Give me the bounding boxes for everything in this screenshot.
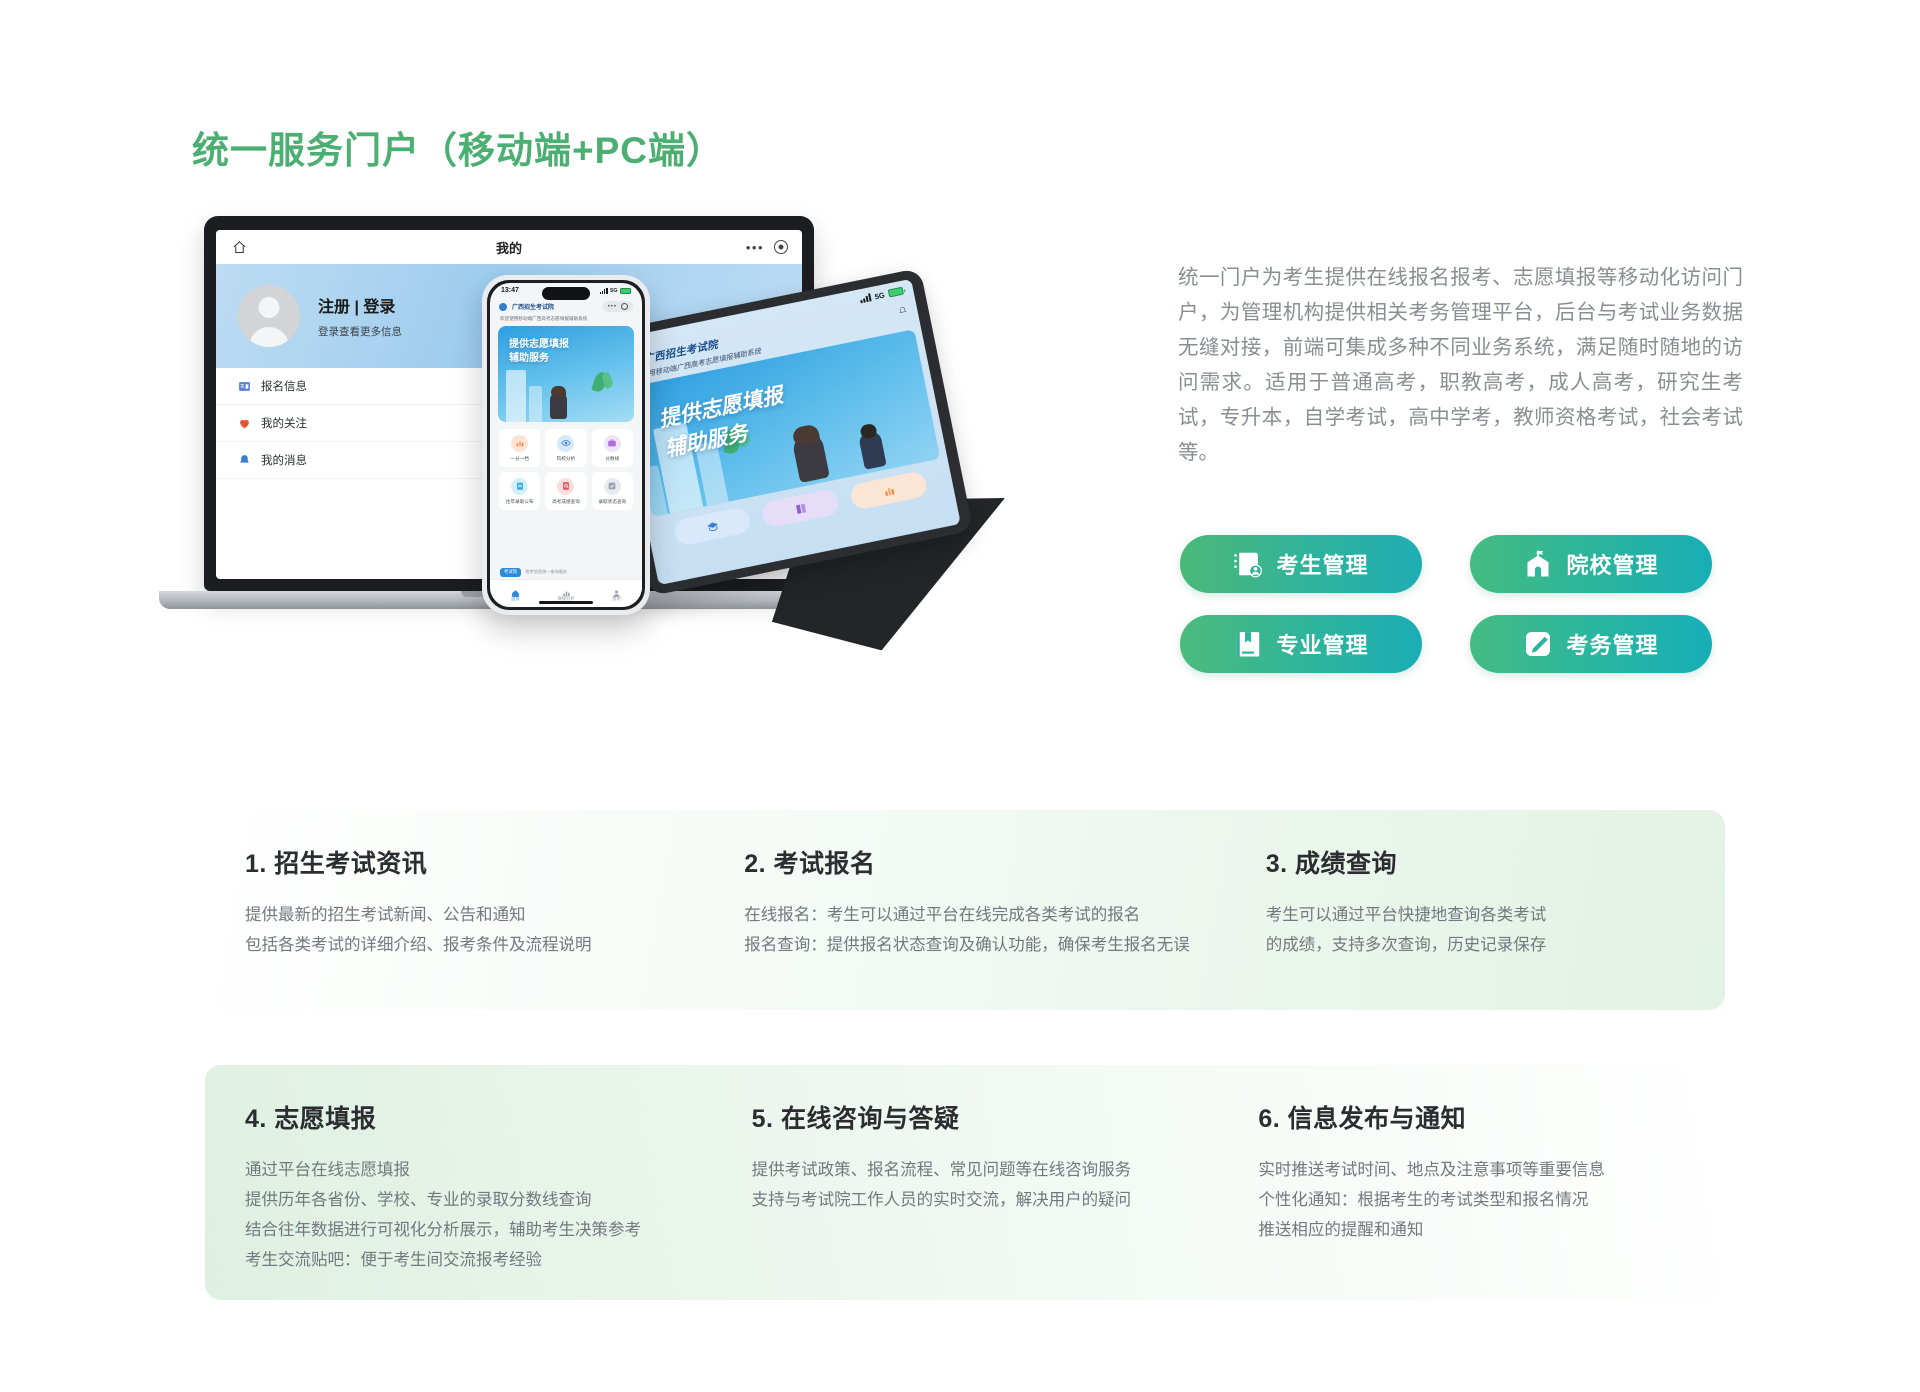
laptop-menu-label: 我的消息 [261, 452, 307, 468]
feature-card-line: 报名查询：提供报名状态查询及确认功能，确保考生报名无误 [744, 930, 1190, 960]
phone-tab-analysis[interactable]: 填报分析 [541, 585, 592, 602]
phone-home-indicator [539, 601, 593, 604]
tablet-tile[interactable] [761, 488, 841, 529]
phone-tab-label: 我的 [612, 596, 621, 602]
feature-card-title: 4. 志愿填报 [245, 1099, 676, 1135]
pencil-edit-icon [1523, 629, 1553, 659]
register-login-link[interactable]: 注册 | 登录 [318, 293, 402, 317]
network-label: 5G [874, 290, 886, 301]
phone-footer: 考试院 招考信息统一查询服务 [490, 568, 642, 577]
phone-bezel: 13:47 5G 广西招生考试院 [487, 280, 645, 610]
book-bookmark-icon [1233, 629, 1263, 659]
eye-icon [557, 435, 574, 452]
feature-card-title: 3. 成绩查询 [1266, 844, 1689, 880]
feature-card-body: 通过平台在线志愿填报 提供历年各省份、学校、专业的录取分数线查询 结合往年数据进… [245, 1155, 676, 1275]
feature-card-line: 实时推送考试时间、地点及注意事项等重要信息 [1258, 1155, 1689, 1185]
laptop-topbar: 我的 ••• [216, 230, 802, 264]
briefcase-icon [604, 435, 621, 452]
phone-grid-item[interactable]: 分数线 [592, 429, 633, 467]
phone-grid-label: 高考成绩查询 [552, 499, 580, 505]
phone-screen: 13:47 5G 广西招生考试院 [490, 283, 642, 607]
graduation-cap-icon [705, 519, 720, 534]
action-button-label: 考务管理 [1566, 628, 1658, 660]
hero-section: 我的 ••• 注册 | 登录 登录查看更多信息 [0, 235, 1920, 765]
phone-grid-item[interactable]: 往年录取公布 [499, 472, 540, 510]
intro-text-block: 统一门户为考生提供在线报名报考、志愿填报等移动化访问门户，为管理机构提供相关考务… [1178, 260, 1743, 470]
feature-card-line: 推送相应的提醒和通知 [1258, 1215, 1689, 1245]
feature-card-line: 提供最新的招生考试新闻、公告和通知 [245, 900, 668, 930]
feature-card-body: 考生可以通过平台快捷地查询各类考试 的成绩，支持多次查询，历史记录保存 [1266, 900, 1689, 960]
bell-icon[interactable] [897, 301, 908, 312]
feature-card-line: 提供历年各省份、学校、专业的录取分数线查询 [245, 1185, 676, 1215]
tablet-tile[interactable] [673, 506, 753, 547]
decor-figure [858, 430, 887, 470]
school-management-button[interactable]: 院校管理 [1470, 535, 1712, 593]
feature-card-line: 考生可以通过平台快捷地查询各类考试 [1266, 900, 1689, 930]
laptop-menu-label: 我的关注 [261, 415, 307, 431]
chart-icon [881, 483, 896, 498]
form-icon [238, 380, 251, 393]
feature-card-body: 提供最新的招生考试新闻、公告和通知 包括各类考试的详细介绍、报考条件及流程说明 [245, 900, 668, 960]
action-button-label: 院校管理 [1566, 548, 1658, 580]
feature-card-title: 2. 考试报名 [744, 844, 1190, 880]
phone-grid-item[interactable]: 院校分析 [545, 429, 586, 467]
avatar [238, 285, 300, 347]
phone-status-right: 5G [600, 288, 631, 294]
feature-card-body: 提供考试政策、报名流程、常见问题等在线咨询服务 支持与考试院工作人员的实时交流，… [752, 1155, 1183, 1215]
phone-welcome-text: 欢迎使用移动端广西高考志愿填报辅助系统 [490, 316, 642, 326]
signal-icon [859, 293, 871, 303]
feature-card: 5. 在线咨询与答疑 提供考试政策、报名流程、常见问题等在线咨询服务 支持与考试… [712, 1065, 1219, 1300]
home-icon [511, 585, 520, 594]
action-button-grid: 考生管理 院校管理 [1180, 535, 1712, 673]
feature-card-line: 包括各类考试的详细介绍、报考条件及流程说明 [245, 930, 668, 960]
intro-paragraph: 统一门户为考生提供在线报名报考、志愿填报等移动化访问门户，为管理机构提供相关考务… [1178, 260, 1743, 470]
more-dots-icon[interactable]: ••• [746, 240, 764, 255]
decor-building [506, 370, 526, 422]
laptop-profile-text: 注册 | 登录 登录查看更多信息 [318, 293, 402, 339]
phone-grid-item[interactable]: 一分一档 [499, 429, 540, 467]
feature-card-line: 提供考试政策、报名流程、常见问题等在线咨询服务 [752, 1155, 1183, 1185]
phone-banner-line2: 辅助服务 [509, 352, 569, 366]
phone-tab-profile[interactable]: 我的 [591, 585, 642, 602]
target-icon[interactable] [774, 240, 788, 254]
laptop-menu-label: 报名信息 [261, 378, 307, 394]
feature-card-row-1: 1. 招生考试资讯 提供最新的招生考试新闻、公告和通知 包括各类考试的详细介绍、… [205, 810, 1725, 1010]
feature-card-title: 6. 信息发布与通知 [1258, 1099, 1689, 1135]
phone-banner[interactable]: 提供志愿填报 辅助服务 [498, 326, 634, 422]
target-icon[interactable] [621, 303, 628, 310]
login-hint: 登录查看更多信息 [318, 324, 402, 339]
feature-card: 6. 信息发布与通知 实时推送考试时间、地点及注意事项等重要信息 个性化通知：根… [1218, 1065, 1725, 1300]
network-label: 5G [610, 288, 617, 294]
chart-icon [562, 585, 571, 594]
signal-icon [600, 288, 608, 294]
phone-grid-label: 分数线 [605, 456, 619, 462]
feature-card-line: 在线报名：考生可以通过平台在线完成各类考试的报名 [744, 900, 1190, 930]
laptop-page-title: 我的 [216, 238, 802, 257]
feature-card-line: 通过平台在线志愿填报 [245, 1155, 676, 1185]
heart-icon [238, 417, 251, 430]
phone-grid-item[interactable]: 录取状态查询 [592, 472, 633, 510]
feature-card-title: 5. 在线咨询与答疑 [752, 1099, 1183, 1135]
action-button-label: 专业管理 [1276, 628, 1368, 660]
tablet-screen: 13:47 5G 广西招生考试院 [609, 279, 961, 585]
exam-affairs-management-button[interactable]: 考务管理 [1470, 615, 1712, 673]
phone-mockup: 13:47 5G 广西招生考试院 [482, 275, 650, 615]
feature-card-line: 的成绩，支持多次查询，历史记录保存 [1266, 930, 1689, 960]
phone-footer-badge: 考试院 [500, 568, 521, 577]
tablet-tile[interactable] [849, 470, 929, 511]
battery-icon [888, 287, 904, 298]
phone-notch [542, 287, 590, 300]
feature-card-line: 支持与考试院工作人员的实时交流，解决用户的疑问 [752, 1185, 1183, 1215]
phone-body: 13:47 5G 广西招生考试院 [482, 275, 650, 615]
feature-card-line: 考生交流贴吧：便于考生间交流报考经验 [245, 1245, 676, 1275]
feature-card-line: 结合往年数据进行可视化分析展示，辅助考生决策参考 [245, 1215, 676, 1245]
tablet-banner-text: 提供志愿填报 辅助服务 [656, 381, 791, 465]
battery-icon [620, 288, 631, 294]
feature-card: 1. 招生考试资讯 提供最新的招生考试新闻、公告和通知 包括各类考试的详细介绍、… [205, 810, 704, 1010]
bar-chart-icon [511, 435, 528, 452]
decor-figure [550, 392, 567, 419]
user-icon [612, 585, 621, 594]
decor-building [529, 386, 542, 422]
feature-card-row-2: 4. 志愿填报 通过平台在线志愿填报 提供历年各省份、学校、专业的录取分数线查询… [205, 1065, 1725, 1300]
phone-grid-label: 往年录取公布 [506, 499, 534, 505]
feature-card-body: 在线报名：考生可以通过平台在线完成各类考试的报名 报名查询：提供报名状态查询及确… [744, 900, 1190, 960]
status-icon [604, 478, 621, 495]
feature-card: 4. 志愿填报 通过平台在线志愿填报 提供历年各省份、学校、专业的录取分数线查询… [205, 1065, 712, 1300]
institute-logo-icon [499, 303, 507, 311]
more-dots-icon[interactable]: ••• [608, 304, 617, 310]
decor-figure [791, 432, 830, 483]
feature-card-line: 个性化通知：根据考生的考试类型和报名情况 [1258, 1185, 1689, 1215]
clipboard-icon [511, 478, 528, 495]
page-root: 统一服务门户（移动端+PC端） 我的 ••• [0, 0, 1920, 1392]
phone-grid-item[interactable]: 高考成绩查询 [545, 472, 586, 510]
candidate-card-icon [1233, 549, 1263, 579]
candidate-management-button[interactable]: 考生管理 [1180, 535, 1422, 593]
phone-clock: 13:47 [501, 287, 519, 294]
message-icon [238, 454, 251, 467]
book-icon [793, 501, 808, 516]
phone-brand-name: 广西招生考试院 [512, 302, 554, 311]
phone-banner-text: 提供志愿填报 辅助服务 [509, 338, 569, 366]
page-title: 统一服务门户（移动端+PC端） [192, 120, 724, 174]
school-building-icon [1523, 549, 1553, 579]
feature-card-title: 1. 招生考试资讯 [245, 844, 668, 880]
phone-banner-line1: 提供志愿填报 [509, 338, 569, 352]
phone-grid-label: 录取状态查询 [599, 499, 627, 505]
feature-card: 3. 成绩查询 考生可以通过平台快捷地查询各类考试 的成绩，支持多次查询，历史记… [1226, 810, 1725, 1010]
feature-card-body: 实时推送考试时间、地点及注意事项等重要信息 个性化通知：根据考生的考试类型和报名… [1258, 1155, 1689, 1245]
phone-grid-label: 院校分析 [557, 456, 575, 462]
action-button-label: 考生管理 [1276, 548, 1368, 580]
phone-footer-text: 招考信息统一查询服务 [525, 569, 567, 575]
device-mockup-group: 我的 ••• 注册 | 登录 登录查看更多信息 [150, 180, 1150, 740]
phone-capsule-menu[interactable]: ••• [603, 301, 633, 312]
search-doc-icon [557, 478, 574, 495]
phone-grid-label: 一分一档 [510, 456, 528, 462]
laptop-actions: ••• [746, 240, 788, 255]
phone-tab-home[interactable]: 首页 [490, 585, 541, 602]
major-management-button[interactable]: 专业管理 [1180, 615, 1422, 673]
phone-feature-grid: 一分一档 院校分析 [490, 422, 642, 510]
phone-tab-label: 首页 [511, 596, 520, 602]
feature-card: 2. 考试报名 在线报名：考生可以通过平台在线完成各类考试的报名 报名查询：提供… [704, 810, 1226, 1010]
